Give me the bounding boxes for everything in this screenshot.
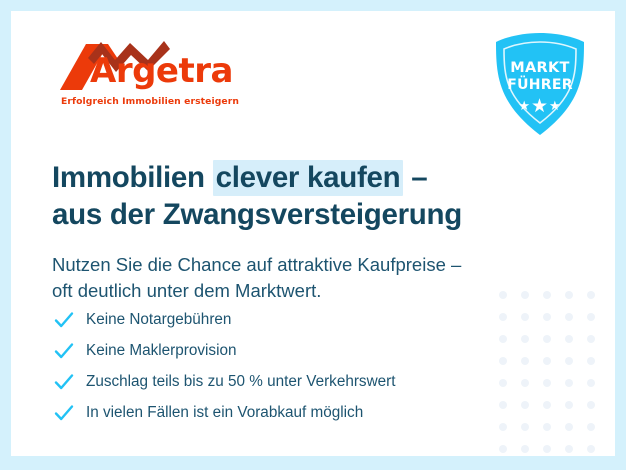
decorative-dot <box>587 335 595 343</box>
list-item: Zuschlag teils bis zu 50 % unter Verkehr… <box>52 366 532 397</box>
badge-line-2: FÜHRER <box>490 77 590 93</box>
logo-wordmark: Argetra <box>90 54 233 88</box>
decorative-dot <box>543 379 551 387</box>
list-item: In vielen Fällen ist ein Vorabkauf mögli… <box>52 397 532 428</box>
decorative-dot <box>565 379 573 387</box>
banner-card: Argetra Erfolgreich Immobilien ersteiger… <box>11 11 615 456</box>
market-leader-badge: MARKT FÜHRER ★★★ <box>490 31 590 139</box>
decorative-dot <box>587 445 595 453</box>
benefit-list: Keine NotargebührenKeine Maklerprovision… <box>52 304 532 428</box>
headline-line-2: aus der Zwangsversteigerung <box>52 196 552 233</box>
badge-line-1: MARKT <box>490 60 590 76</box>
decorative-dot <box>543 313 551 321</box>
decorative-dot <box>565 423 573 431</box>
benefit-label: In vielen Fällen ist ein Vorabkauf mögli… <box>86 404 363 422</box>
decorative-dot <box>587 357 595 365</box>
decorative-dot <box>587 423 595 431</box>
badge-stars: ★★★ <box>490 97 590 116</box>
decorative-dot <box>543 335 551 343</box>
check-icon <box>52 339 76 363</box>
list-item: Keine Maklerprovision <box>52 335 532 366</box>
star-icon-left: ★ <box>518 98 531 113</box>
check-icon <box>52 308 76 332</box>
decorative-dot <box>521 445 529 453</box>
check-icon <box>52 401 76 425</box>
decorative-dot <box>565 335 573 343</box>
promo-banner: Argetra Erfolgreich Immobilien ersteiger… <box>0 0 626 470</box>
benefit-label: Keine Notargebühren <box>86 311 231 329</box>
decorative-dot <box>565 291 573 299</box>
decorative-dot <box>587 313 595 321</box>
subheadline-line-1: Nutzen Sie die Chance auf attraktive Kau… <box>52 252 552 279</box>
check-icon <box>52 370 76 394</box>
decorative-dot <box>587 291 595 299</box>
argetra-logo[interactable]: Argetra Erfolgreich Immobilien ersteiger… <box>52 38 252 113</box>
headline-part-1: Immobilien <box>52 161 213 194</box>
benefit-label: Zuschlag teils bis zu 50 % unter Verkehr… <box>86 373 395 391</box>
decorative-dot <box>565 313 573 321</box>
star-icon-right: ★ <box>549 98 562 113</box>
decorative-dot <box>565 401 573 409</box>
decorative-dot <box>543 445 551 453</box>
decorative-dot <box>565 445 573 453</box>
page-title: Immobilien clever kaufen – aus der Zwang… <box>52 159 552 234</box>
headline-part-2: – <box>403 161 427 194</box>
decorative-dot <box>543 357 551 365</box>
decorative-dot <box>543 423 551 431</box>
decorative-dot <box>587 401 595 409</box>
decorative-dot <box>565 357 573 365</box>
subheadline: Nutzen Sie die Chance auf attraktive Kau… <box>52 252 552 306</box>
benefit-label: Keine Maklerprovision <box>86 342 237 360</box>
star-icon-center: ★ <box>531 96 549 117</box>
logo-tagline: Erfolgreich Immobilien ersteigern <box>61 96 239 107</box>
decorative-dot <box>543 401 551 409</box>
decorative-dot <box>499 445 507 453</box>
decorative-dot <box>587 379 595 387</box>
headline-highlight: clever kaufen <box>213 160 404 196</box>
list-item: Keine Notargebühren <box>52 304 532 335</box>
subheadline-line-2: oft deutlich unter dem Marktwert. <box>52 278 552 305</box>
